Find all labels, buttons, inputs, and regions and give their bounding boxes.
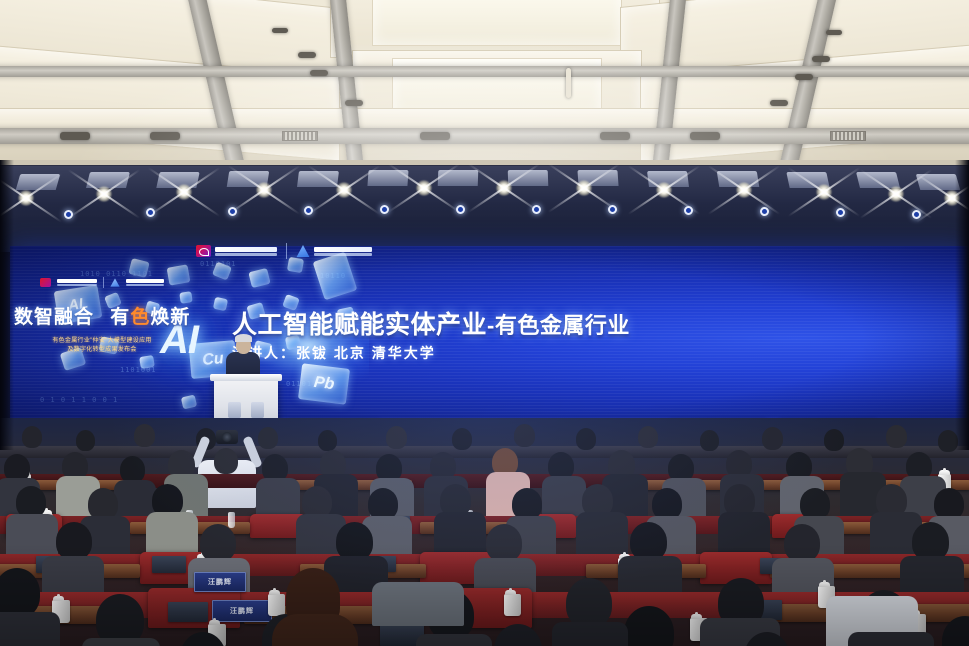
banner-headline-post: 焕新 — [150, 307, 190, 328]
light-lens — [532, 205, 541, 214]
ceiling-track-light — [690, 132, 720, 140]
audience-head-front — [0, 568, 40, 618]
spotlight — [576, 180, 592, 196]
spotlight — [336, 182, 352, 198]
light-lens — [836, 208, 845, 217]
audience-head-front — [566, 578, 612, 628]
audience-head — [120, 456, 145, 483]
left-vignette — [0, 160, 14, 450]
light-lens — [64, 210, 73, 219]
audience-torso — [256, 478, 300, 518]
laptop — [152, 556, 186, 573]
ceiling-light-fixture — [770, 100, 788, 106]
audience-head — [638, 426, 658, 448]
audience-head — [452, 428, 472, 450]
banner-headline-pre: 有 — [110, 307, 130, 328]
audience-head — [486, 524, 522, 562]
coffered-ceiling — [0, 0, 969, 166]
audience-head — [886, 425, 907, 448]
spotlight — [496, 180, 512, 196]
audience-head — [784, 524, 820, 562]
presentation-title-main: 人工智能赋能实体产业 — [232, 311, 487, 339]
water-bottle — [228, 512, 235, 528]
ceiling-light-fixture — [826, 30, 842, 35]
audience-head — [824, 429, 844, 451]
audience-torso-front — [0, 612, 60, 646]
element-cube-pb: Pb — [298, 363, 350, 405]
name-placard: 汪鹏辉 — [194, 572, 246, 592]
speaker-hair — [235, 334, 252, 342]
audience-head — [576, 428, 596, 450]
audience-torso-front — [272, 614, 358, 646]
ceiling-light-fixture — [795, 74, 813, 80]
audience-torso — [114, 480, 156, 518]
audience-head — [762, 427, 783, 450]
audience-head — [22, 426, 42, 448]
ceiling-vent — [282, 131, 318, 141]
audience-head — [514, 424, 535, 447]
cnmc-logo-icon-small — [110, 278, 120, 287]
ceiling-track-light — [420, 132, 450, 140]
screen-left-banner: 数智融合 有色焕新 有色金属行业"仲安"大模型建设应用 及数字化转型成果发布会 — [14, 255, 190, 375]
light-lens — [380, 205, 389, 214]
ceiling-track-light — [600, 132, 630, 140]
stage-light-truss — [0, 160, 969, 252]
spotlight — [416, 180, 432, 196]
audience-torso-front — [416, 634, 492, 646]
presenter-line: 演讲人：张钹 北京 清华大学 — [232, 343, 436, 363]
light-lens — [608, 205, 617, 214]
audience-torso-front — [82, 638, 160, 646]
ceiling-light-fixture — [272, 28, 288, 33]
ceiling-light-fixture — [310, 70, 328, 76]
audience-head — [386, 426, 407, 449]
spotlight — [736, 182, 752, 198]
ceiling-vent — [830, 131, 866, 141]
audience-head — [134, 424, 155, 447]
left-banner-logos — [14, 277, 190, 288]
spotlight — [888, 186, 904, 202]
screen-header-logos — [196, 243, 372, 259]
presentation-title: 人工智能赋能实体产业-有色金属行业 — [232, 305, 630, 341]
ceiling-light-fixture — [812, 56, 830, 62]
audience-torso-front — [848, 632, 934, 646]
teacup-front — [268, 594, 285, 616]
ceiling-track-light — [150, 132, 180, 140]
ceiling-track-light — [60, 132, 90, 140]
camera — [216, 430, 238, 444]
light-lens — [228, 207, 237, 216]
audience-head — [200, 524, 236, 562]
logo-divider — [286, 243, 287, 259]
name-placard: 汪鹏辉 — [212, 600, 272, 622]
spotlight — [176, 184, 192, 200]
conference-hall-photo: 1010 0110 1101 0110101 10110 0 1 0 1 1 0… — [0, 0, 969, 646]
light-lens — [304, 206, 313, 215]
audience-head — [700, 430, 719, 451]
spotlight — [816, 184, 832, 200]
banner-headline-accent: 色 — [130, 307, 150, 328]
light-lens — [146, 208, 155, 217]
right-vignette — [955, 160, 969, 450]
banner-headline-part1: 数智融合 — [14, 307, 94, 328]
spotlight — [96, 186, 112, 202]
banner-subtitle-line2: 及数字化转型成果发布会 — [14, 346, 190, 355]
light-lens — [760, 207, 769, 216]
audience-torso — [542, 476, 586, 518]
light-lens — [912, 210, 921, 219]
spotlight — [256, 182, 272, 198]
cnia-logo-icon — [196, 245, 211, 257]
audience-torso — [6, 514, 58, 558]
presentation-title-suffix: -有色金属行业 — [487, 313, 630, 338]
spotlight — [18, 190, 34, 206]
audience-head — [318, 430, 337, 451]
teacup-front — [504, 594, 521, 616]
light-lens — [684, 206, 693, 215]
photographer-head — [214, 448, 238, 474]
audience-torso-front — [552, 622, 628, 646]
audience-torso — [576, 512, 628, 558]
light-lens — [456, 205, 465, 214]
cnmc-logo-icon — [296, 245, 310, 258]
ceiling-light-fixture — [345, 100, 363, 106]
laptop-front — [168, 602, 208, 622]
cnia-logo-icon-small — [40, 278, 51, 287]
ceiling-light-fixture — [298, 52, 316, 58]
logo-cnia — [196, 245, 277, 257]
audience-head — [56, 522, 92, 560]
audience-head — [76, 430, 95, 451]
banner-subtitle: 有色金属行业"仲安"大模型建设应用 及数字化转型成果发布会 — [14, 337, 190, 355]
banner-subtitle-line1: 有色金属行业"仲安"大模型建设应用 — [14, 337, 190, 346]
audience-head — [258, 427, 278, 449]
spotlight — [656, 182, 672, 198]
banner-headline: 数智融合 有色焕新 — [14, 302, 190, 329]
logo-cnmc — [296, 245, 372, 258]
audience-torso-front — [372, 582, 464, 626]
ceiling-pendant — [566, 68, 571, 98]
seated-audience: 汪鹏辉 汪鹏辉 — [0, 418, 969, 646]
